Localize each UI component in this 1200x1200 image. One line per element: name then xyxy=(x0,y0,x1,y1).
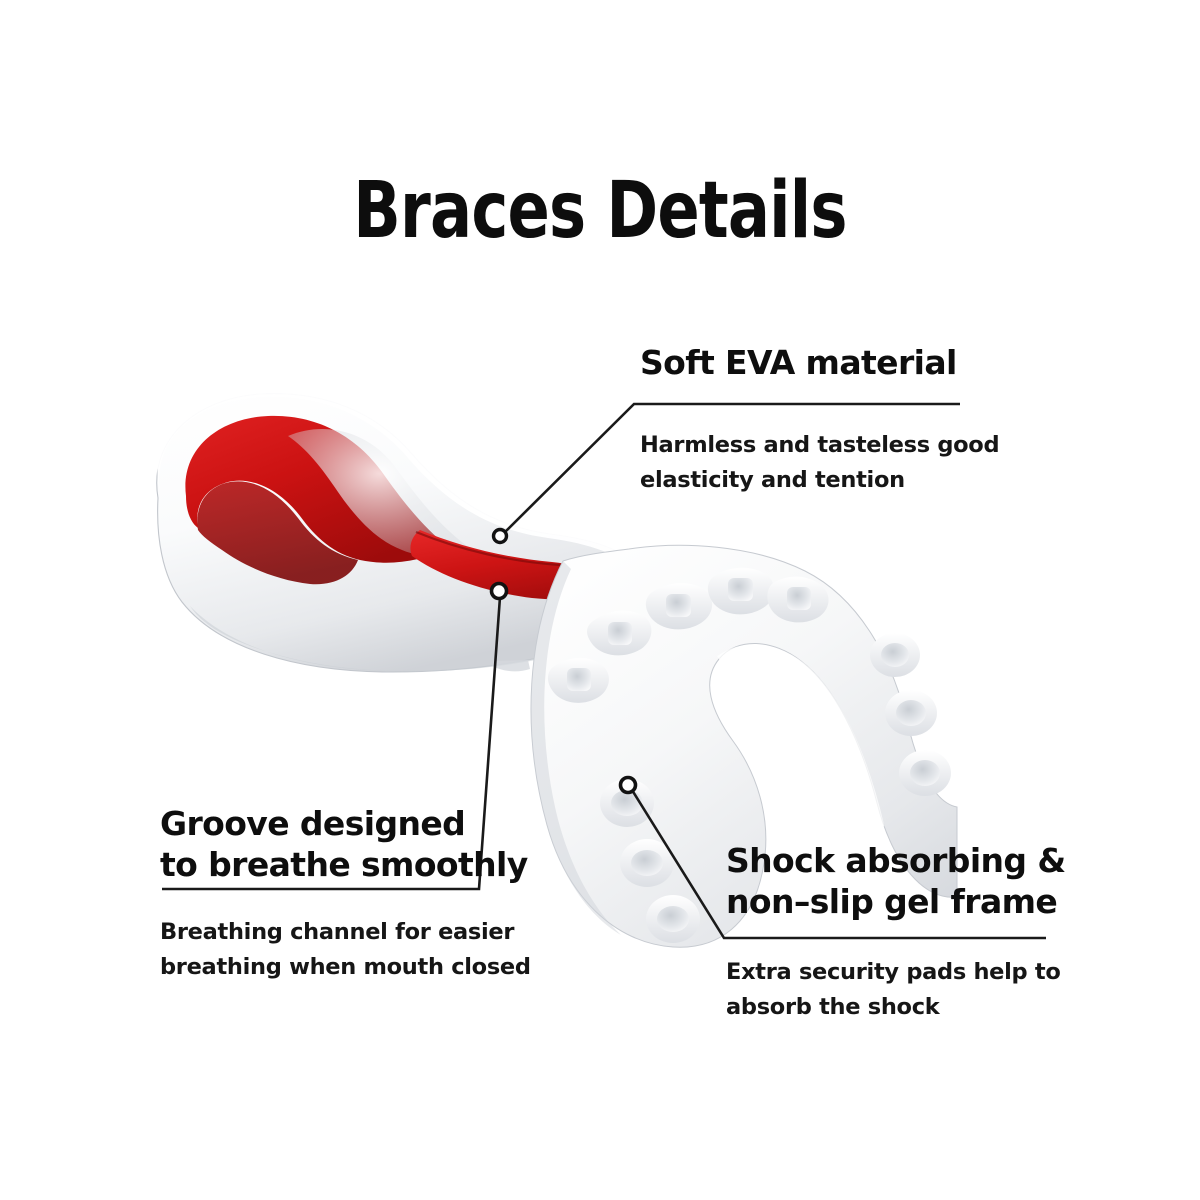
callout-groove: Groove designed to breathe smoothly xyxy=(160,803,528,885)
callout-shock-heading-line1: Shock absorbing & xyxy=(726,840,1066,881)
callout-groove-heading-line2: to breathe smoothly xyxy=(160,844,528,885)
callout-shock-heading-line2: non–slip gel frame xyxy=(726,881,1066,922)
page-title: Braces Details xyxy=(120,172,1080,250)
callout-shock-body-line2: absorb the shock xyxy=(726,990,1061,1025)
callout-soft-eva-body: Harmless and tasteless good elasticity a… xyxy=(640,428,999,498)
callout-groove-body-line1: Breathing channel for easier xyxy=(160,915,531,950)
callout-soft-eva-body-line2: elasticity and tention xyxy=(640,463,999,498)
callout-shock-body: Extra security pads help to absorb the s… xyxy=(726,955,1061,1025)
callout-groove-heading-line1: Groove designed xyxy=(160,803,528,844)
callout-groove-body: Breathing channel for easier breathing w… xyxy=(160,915,531,985)
callout-shock: Shock absorbing & non–slip gel frame xyxy=(726,840,1066,922)
callout-soft-eva-body-line1: Harmless and tasteless good xyxy=(640,428,999,463)
callout-soft-eva-heading: Soft EVA material xyxy=(640,343,957,383)
callout-groove-body-line2: breathing when mouth closed xyxy=(160,950,531,985)
infographic-page: Braces Details xyxy=(0,0,1200,1200)
callout-shock-body-line1: Extra security pads help to xyxy=(726,955,1061,990)
callout-soft-eva: Soft EVA material xyxy=(640,343,957,383)
